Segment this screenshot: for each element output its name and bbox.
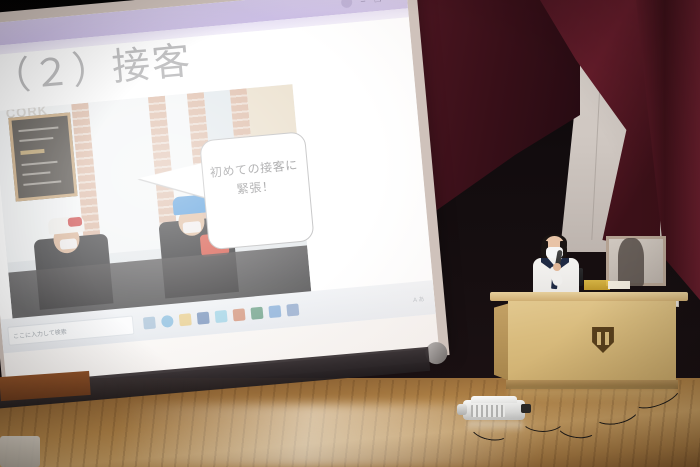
mail-icon[interactable]	[268, 305, 281, 318]
yellow-notepad	[584, 280, 610, 290]
slide-canvas: （２）接客 CORK	[0, 17, 436, 353]
taskbar-icon-group	[143, 303, 299, 329]
projector-top-cover	[471, 396, 517, 403]
podium-front-panel	[508, 301, 676, 385]
task-view-icon[interactable]	[143, 317, 156, 330]
excel-icon[interactable]	[250, 307, 263, 320]
speech-bubble-tail	[137, 162, 208, 204]
cortana-icon[interactable]	[161, 315, 174, 328]
booth-silhouette-figure	[618, 238, 644, 286]
screen-surface: – ❐ ✕ （２）接客 CORK	[0, 0, 439, 387]
close-button[interactable]: ✕	[390, 0, 397, 2]
auditorium-scene: – ❐ ✕ （２）接客 CORK	[0, 0, 700, 467]
powerpoint-icon[interactable]	[233, 308, 246, 321]
minimize-button[interactable]: –	[360, 0, 365, 5]
taskbar-search-input[interactable]: ここに入力して検索	[7, 315, 134, 345]
front-row-seat	[0, 436, 40, 467]
podium	[494, 292, 684, 392]
crest-notch-left	[597, 332, 601, 345]
student-presenter	[529, 236, 583, 298]
podium-top-surface	[490, 292, 688, 301]
store-icon[interactable]	[215, 310, 228, 323]
media-icon[interactable]	[286, 303, 299, 316]
maximize-button[interactable]: ❐	[374, 0, 382, 4]
crest-shield	[590, 327, 616, 353]
presenter-hand	[553, 263, 561, 271]
school-crest-emblem	[586, 323, 620, 357]
explorer-icon[interactable]	[179, 313, 192, 326]
tray-ime-indicator[interactable]: A あ	[413, 294, 425, 304]
taskbar-tray: A あ	[413, 293, 429, 303]
projector-vents	[471, 405, 505, 417]
word-icon[interactable]	[197, 312, 210, 325]
projector-lens	[457, 404, 467, 415]
account-icon[interactable]	[340, 0, 352, 8]
paper-stack	[608, 281, 630, 289]
chalkboard-sign	[8, 112, 77, 201]
crest-notch-right	[605, 332, 609, 345]
